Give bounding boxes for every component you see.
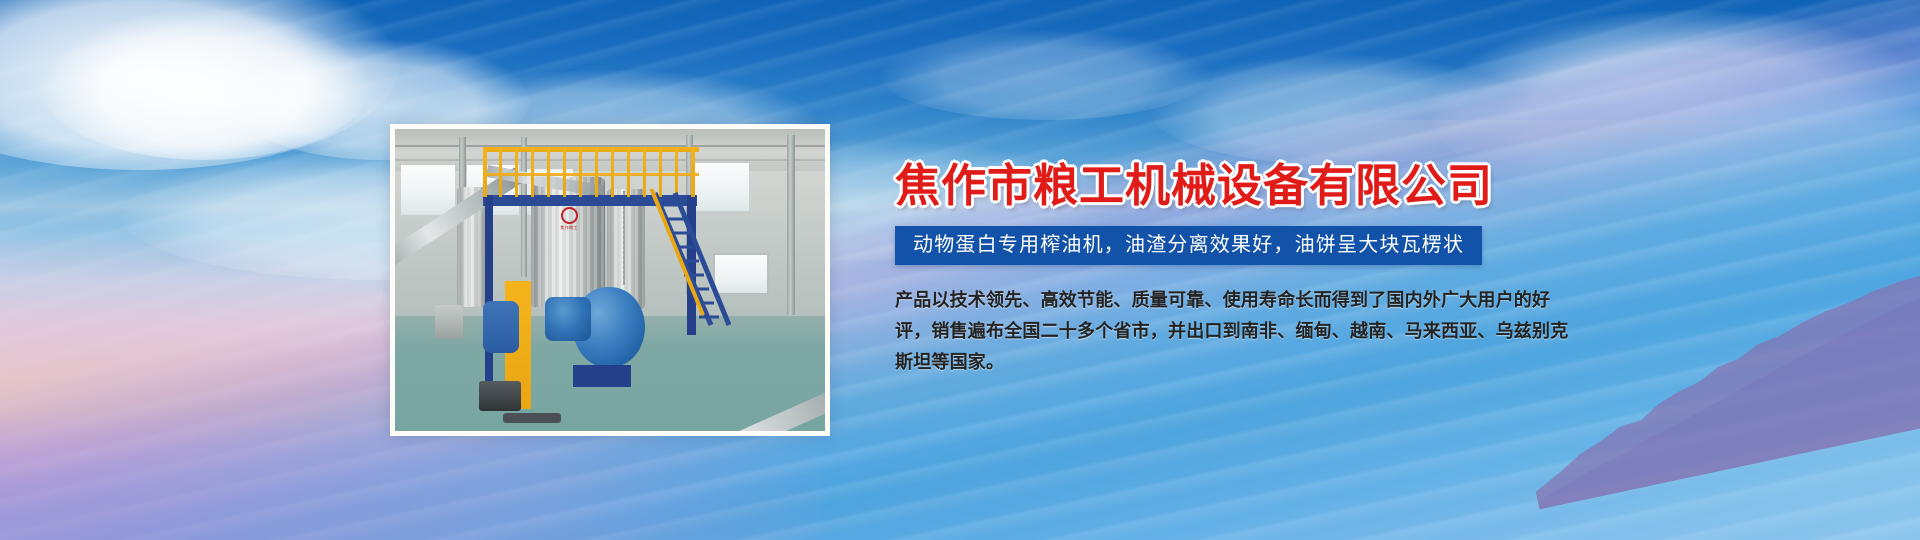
gear-motor (479, 381, 521, 411)
factory-scene: 焦作粮工 (395, 129, 825, 431)
motor-base (573, 365, 631, 387)
product-photo: 焦作粮工 (390, 124, 830, 436)
railing-post (595, 147, 598, 197)
railing-post (563, 147, 566, 197)
copy-block: 焦作市粮工机械设备有限公司 动物蛋白专用榨油机，油渣分离效果好，油饼呈大块瓦楞状… (895, 160, 1595, 378)
subtitle-banner: 动物蛋白专用榨油机，油渣分离效果好，油饼呈大块瓦楞状 (895, 226, 1482, 265)
company-logo-icon: 焦作粮工 (558, 207, 580, 233)
railing-post (611, 147, 614, 197)
steel-column (787, 135, 795, 315)
description-text: 产品以技术领先、高效节能、质量可靠、使用寿命长而得到了国内外广大用户的好评，销售… (895, 285, 1585, 378)
railing-post (547, 147, 550, 197)
subtitle-text: 动物蛋白专用榨油机，油渣分离效果好，油饼呈大块瓦楞状 (913, 234, 1464, 256)
logo-text: 焦作粮工 (558, 225, 580, 231)
railing-post (531, 147, 534, 197)
railing-post (499, 147, 502, 197)
railing-post (627, 147, 630, 197)
platform-post (485, 195, 493, 395)
railing-post (483, 147, 487, 197)
page-title: 焦作市粮工机械设备有限公司 (895, 160, 1595, 212)
press-frame (483, 301, 519, 353)
control-cabinet (435, 305, 463, 339)
steel-column (521, 137, 527, 277)
base-rail (503, 413, 561, 423)
workshop-window (401, 165, 455, 215)
railing-post (579, 147, 582, 197)
press-housing (545, 297, 591, 341)
access-stair (649, 189, 731, 329)
railing-post (515, 147, 518, 197)
hero-banner: 焦作粮工 (0, 0, 1920, 540)
railing-post (643, 147, 646, 197)
screw-conveyor-right (662, 376, 825, 431)
